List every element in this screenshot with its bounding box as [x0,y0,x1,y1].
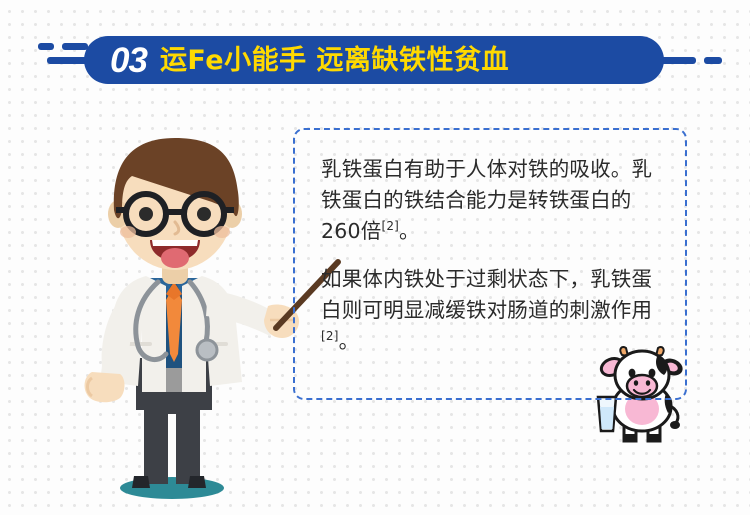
cow-hoof-hand-right [670,421,680,429]
paragraph-1-citation: [2] [381,219,399,233]
cheek-right [214,226,230,238]
infographic-page: 03 运Fe小能手 远离缺铁性贫血 [0,0,750,515]
tongue [161,248,189,268]
shoe-left [132,476,150,488]
hand-left [85,372,125,402]
eye-left [139,207,153,221]
paragraph-1-tail: 。 [399,219,420,243]
banner-title: 运Fe小能手 远离缺铁性贫血 [160,47,509,74]
paragraph-2: 如果体内铁处于过剩状态下，乳铁蛋白则可明显减缓铁对肠道的刺激作用[2]。 [321,264,663,357]
paragraph-1-text: 乳铁蛋白有助于人体对铁的吸收。乳铁蛋白的铁结合能力是转铁蛋白的260倍 [321,157,652,243]
cow-hoof-right [647,434,661,442]
cheek-left [120,226,136,238]
banner-section-number: 03 [110,43,147,78]
banner-pill: 03 运Fe小能手 远离缺铁性贫血 [84,36,664,84]
stethoscope-chestpiece [197,340,217,360]
dash-right-bottom-b [704,57,722,64]
shoe-right [188,476,206,488]
dash-left-top-b [62,43,88,50]
eye-right [197,207,211,221]
dash-left-top-a [38,43,54,50]
content-text-box: 乳铁蛋白有助于人体对铁的吸收。乳铁蛋白的铁结合能力是转铁蛋白的260倍[2]。 … [293,128,687,400]
paragraph-2-citation: [2] [321,329,339,343]
header-banner: 03 运Fe小能手 远离缺铁性贫血 [0,28,750,92]
paragraph-1: 乳铁蛋白有助于人体对铁的吸收。乳铁蛋白的铁结合能力是转铁蛋白的260倍[2]。 [321,154,663,247]
teeth [152,240,198,246]
paragraph-2-text: 如果体内铁处于过剩状态下，乳铁蛋白则可明显减缓铁对肠道的刺激作用 [321,267,652,322]
paragraph-2-tail: 。 [339,329,360,353]
cow-hoof-left [623,434,637,442]
milk-liquid [600,407,614,429]
